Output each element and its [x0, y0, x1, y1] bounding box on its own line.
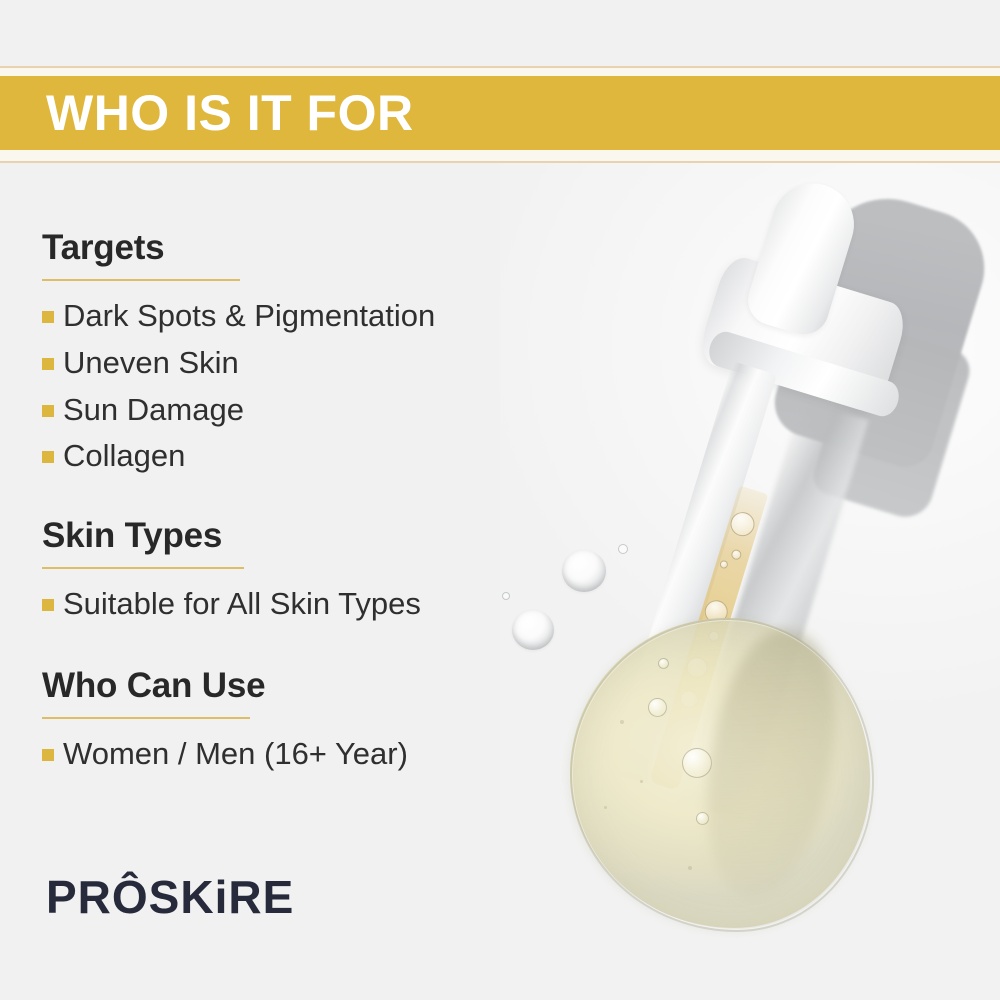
section-heading: Targets: [42, 228, 562, 267]
puddle-speck: [640, 780, 643, 783]
pipette-bubble: [719, 559, 729, 569]
banner-top-cream: [0, 68, 1000, 76]
content-column: Targets Dark Spots & Pigmentation Uneven…: [42, 228, 562, 780]
pipette-bubble: [730, 548, 742, 560]
product-photo: [500, 160, 1000, 1000]
puddle-bubble: [658, 658, 669, 669]
square-bullet-icon: [42, 749, 54, 761]
list-item: Women / Men (16+ Year): [42, 733, 562, 776]
skin-types-list: Suitable for All Skin Types: [42, 583, 562, 626]
section-banner: WHO IS IT FOR: [0, 76, 1000, 150]
micro-droplet: [618, 544, 628, 554]
section-heading: Skin Types: [42, 516, 562, 555]
pipette-bubble: [728, 509, 758, 539]
page-title: WHO IS IT FOR: [46, 88, 414, 138]
section-gap: [42, 630, 562, 666]
list-item-label: Uneven Skin: [63, 342, 239, 385]
puddle-speck: [620, 720, 624, 724]
section-heading: Who Can Use: [42, 666, 562, 705]
heading-underline: [42, 279, 240, 281]
puddle-bubble: [648, 698, 667, 717]
puddle-speck: [688, 866, 692, 870]
banner-bottom-rule: [0, 161, 1000, 163]
banner-bottom-cream: [0, 150, 1000, 161]
list-item-label: Dark Spots & Pigmentation: [63, 295, 435, 338]
puddle-speck: [604, 806, 607, 809]
square-bullet-icon: [42, 451, 54, 463]
section-who-can-use: Who Can Use Women / Men (16+ Year): [42, 666, 562, 776]
list-item-label: Women / Men (16+ Year): [63, 733, 408, 776]
water-droplet: [562, 550, 606, 592]
section-skin-types: Skin Types Suitable for All Skin Types: [42, 516, 562, 626]
targets-list: Dark Spots & Pigmentation Uneven Skin Su…: [42, 295, 562, 478]
brand-logo: PRÔSKiRE: [46, 874, 294, 920]
infographic-page: WHO IS IT FOR Targets Dark Spots & Pigme…: [0, 0, 1000, 1000]
heading-underline: [42, 717, 250, 719]
list-item-label: Sun Damage: [63, 389, 244, 432]
list-item-label: Collagen: [63, 435, 185, 478]
square-bullet-icon: [42, 405, 54, 417]
list-item-label: Suitable for All Skin Types: [63, 583, 421, 626]
square-bullet-icon: [42, 358, 54, 370]
list-item: Uneven Skin: [42, 342, 562, 385]
heading-underline: [42, 567, 244, 569]
list-item: Sun Damage: [42, 389, 562, 432]
list-item: Dark Spots & Pigmentation: [42, 295, 562, 338]
square-bullet-icon: [42, 599, 54, 611]
list-item: Collagen: [42, 435, 562, 478]
puddle-bubble: [682, 748, 712, 778]
puddle-bubble: [696, 812, 709, 825]
section-targets: Targets Dark Spots & Pigmentation Uneven…: [42, 228, 562, 478]
list-item: Suitable for All Skin Types: [42, 583, 562, 626]
square-bullet-icon: [42, 311, 54, 323]
who-can-use-list: Women / Men (16+ Year): [42, 733, 562, 776]
section-gap: [42, 482, 562, 516]
